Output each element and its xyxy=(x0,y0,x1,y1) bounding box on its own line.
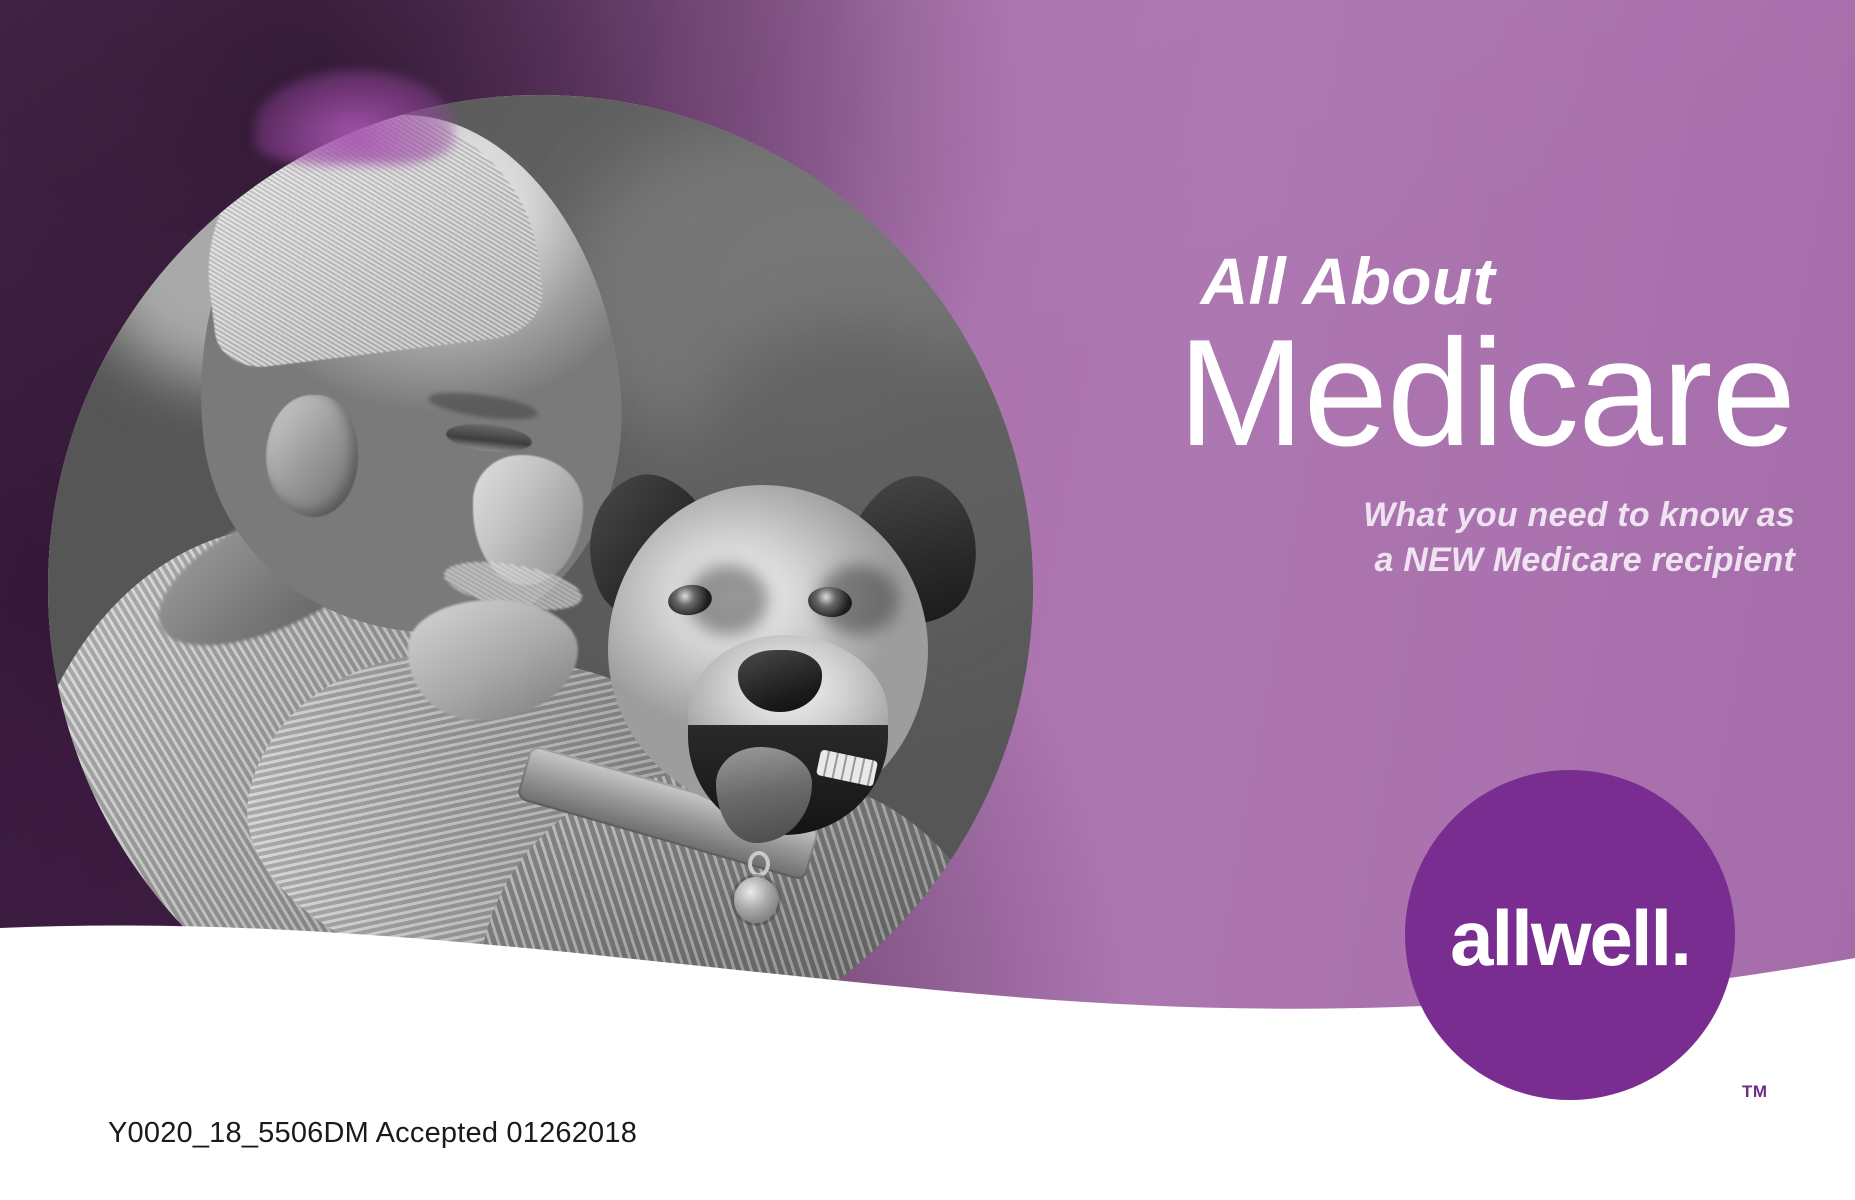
page-title: Medicare xyxy=(1055,316,1795,471)
tagline-line-1: What you need to know as xyxy=(1055,493,1795,538)
dog-tag xyxy=(734,877,778,923)
allwell-logo-wordmark: allwell. xyxy=(1450,899,1690,977)
eyebrow-text: All About xyxy=(1055,248,1795,314)
headline-block: All About Medicare What you need to know… xyxy=(1055,248,1795,583)
medicare-brochure-cover: All About Medicare What you need to know… xyxy=(0,0,1855,1200)
legal-id-footer: Y0020_18_5506DM Accepted 01262018 xyxy=(108,1117,637,1150)
tagline-line-2: a NEW Medicare recipient xyxy=(1055,538,1795,583)
dog-collar-ring xyxy=(748,851,770,877)
tagline-block: What you need to know as a NEW Medicare … xyxy=(1055,493,1795,583)
hero-photo-circle xyxy=(48,95,1033,1080)
man-ear xyxy=(266,395,358,517)
allwell-logo: allwell. xyxy=(1405,770,1735,1100)
trademark-symbol: TM xyxy=(1742,1082,1768,1102)
